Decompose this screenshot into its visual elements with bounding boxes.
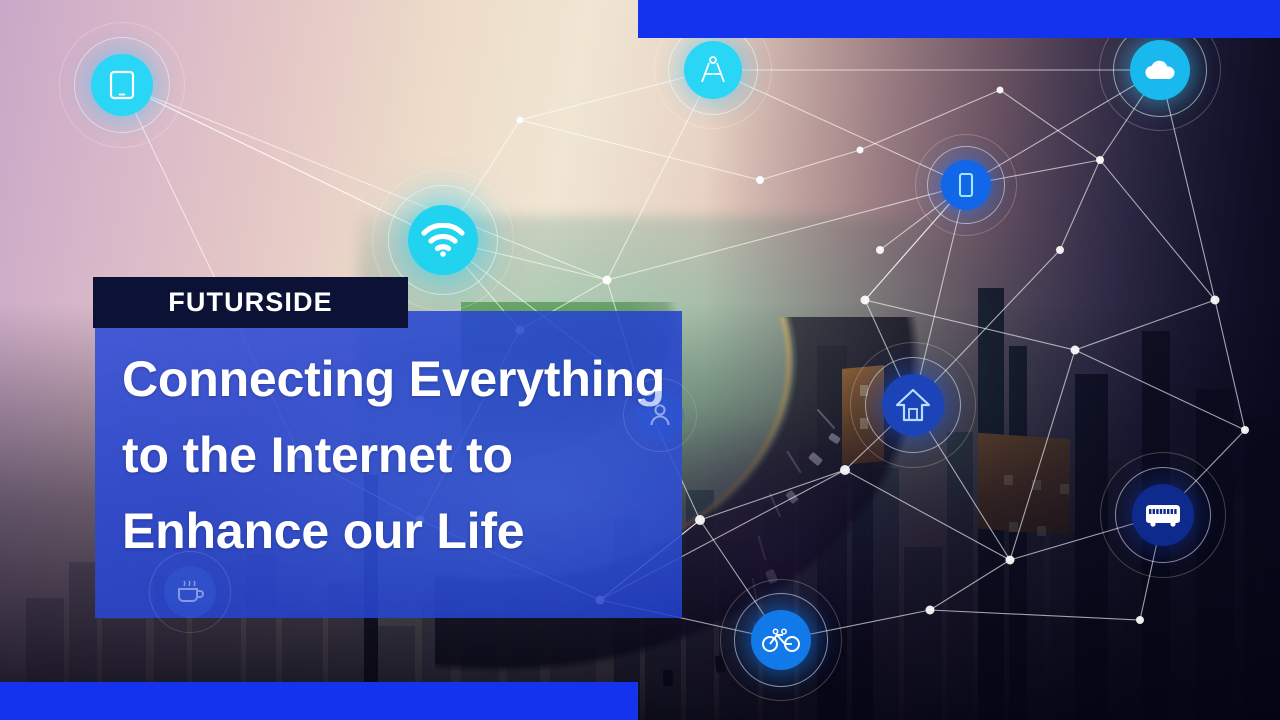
headline-text: Connecting Everything to the Internet to… [122,341,670,569]
tablet-icon [109,70,135,100]
iot-node-person[interactable] [636,391,684,439]
kicker-badge: FUTURSIDE [93,277,408,328]
iot-node-cloud[interactable] [1130,40,1190,100]
home-icon [895,388,931,422]
kicker-label: FUTURSIDE [168,287,332,318]
iot-node-wifi[interactable] [408,205,478,275]
coffee-icon [175,580,205,604]
bottom-left-accent-bar [0,682,638,720]
bus-icon [1144,503,1182,527]
iot-node-antenna[interactable] [684,41,742,99]
iot-node-bicycle[interactable] [751,610,811,670]
bicycle-icon [762,627,800,653]
iot-promo-banner: FUTURSIDE Connecting Everything to the I… [0,0,1280,720]
person-icon [649,403,671,427]
cloud-icon [1142,58,1178,82]
iot-node-bus[interactable] [1132,484,1194,546]
iot-node-coffee[interactable] [164,566,216,618]
iot-node-home[interactable] [882,374,944,436]
antenna-icon [699,55,727,85]
iot-node-smartphone[interactable] [941,160,991,210]
top-right-accent-bar [638,0,1280,38]
wifi-icon [421,223,465,257]
iot-node-tablet[interactable] [91,54,153,116]
smartphone-icon [958,172,974,198]
